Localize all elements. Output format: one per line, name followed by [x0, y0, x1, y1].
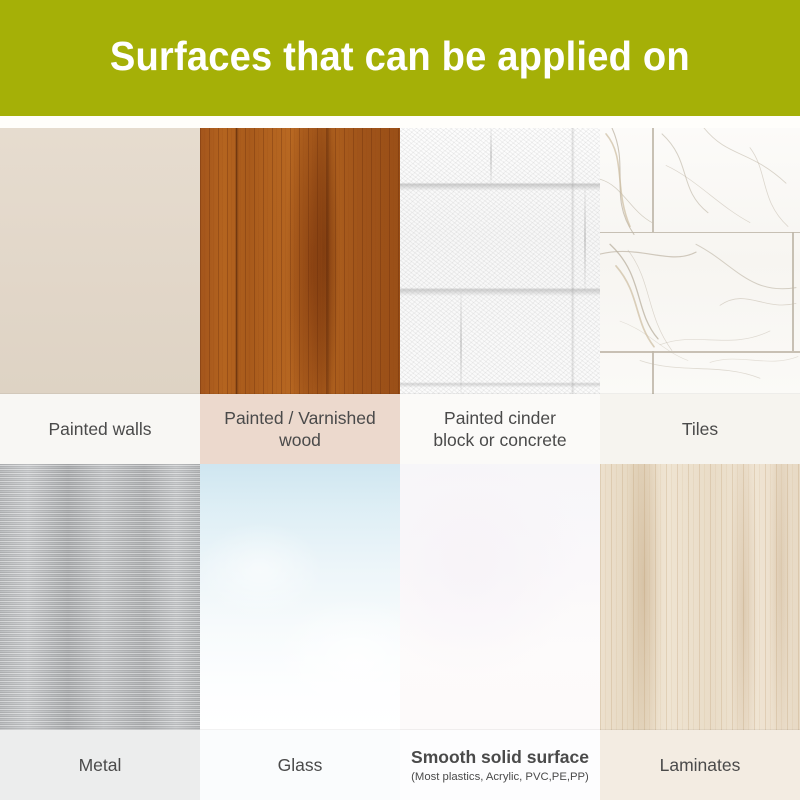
- swatch-painted-cinder-block: [400, 128, 600, 394]
- surface-cell-metal[interactable]: Metal: [0, 464, 200, 800]
- mortar-joint-vertical: [490, 128, 492, 184]
- surface-cell-painted-varnished-wood[interactable]: Painted / Varnished wood: [200, 128, 400, 464]
- swatch-separator: [200, 393, 400, 394]
- surface-cell-painted-walls[interactable]: Painted walls: [0, 128, 200, 464]
- swatch-separator: [400, 393, 600, 394]
- swatch-tiles: [600, 128, 800, 394]
- surface-cell-smooth-solid-surface[interactable]: Smooth solid surface (Most plastics, Acr…: [400, 464, 600, 800]
- caption-metal: Metal: [0, 730, 200, 800]
- surface-label: Laminates: [660, 754, 741, 776]
- grout-line-horizontal: [600, 232, 800, 234]
- caption-smooth-solid-surface: Smooth solid surface (Most plastics, Acr…: [400, 730, 600, 800]
- surface-label: Painted cinder: [444, 407, 556, 429]
- swatch-separator: [0, 729, 200, 730]
- surface-cell-painted-cinder-block[interactable]: Painted cinder block or concrete: [400, 128, 600, 464]
- surface-label: Smooth solid surface: [411, 746, 589, 768]
- marble-veining: [600, 128, 800, 394]
- surface-label: Painted / Varnished: [224, 407, 375, 429]
- surfaces-poster: Surfaces that can be applied on Painted …: [0, 0, 800, 800]
- swatch-metal: [0, 464, 200, 730]
- surface-cell-glass[interactable]: Glass: [200, 464, 400, 800]
- grout-line-vertical: [652, 351, 654, 394]
- grout-line-vertical: [792, 232, 794, 352]
- caption-painted-walls: Painted walls: [0, 394, 200, 464]
- surface-cell-tiles[interactable]: Tiles: [600, 128, 800, 464]
- swatch-separator: [600, 393, 800, 394]
- surface-grid: Painted walls Painted / Varnished wood P…: [0, 128, 800, 800]
- surface-label: Metal: [79, 754, 122, 776]
- surface-sublabel: (Most plastics, Acrylic, PVC,PE,PP): [411, 770, 589, 784]
- swatch-laminates: [600, 464, 800, 730]
- swatch-separator: [600, 729, 800, 730]
- swatch-separator: [400, 729, 600, 730]
- swatch-smooth-solid-surface: [400, 464, 600, 730]
- page-title: Surfaces that can be applied on: [110, 33, 690, 80]
- grout-line-horizontal: [600, 351, 800, 353]
- swatch-painted-walls: [0, 128, 200, 394]
- surface-label: Glass: [278, 754, 323, 776]
- surface-label: Tiles: [682, 418, 718, 440]
- mortar-joint-vertical: [584, 187, 586, 291]
- swatch-separator: [200, 729, 400, 730]
- surface-cell-laminates[interactable]: Laminates: [600, 464, 800, 800]
- header-divider-gap: [0, 116, 800, 128]
- surface-label-line2: block or concrete: [433, 429, 566, 451]
- surface-label-line2: wood: [279, 429, 321, 451]
- surface-label: Painted walls: [48, 418, 151, 440]
- header-banner: Surfaces that can be applied on: [0, 0, 800, 116]
- swatch-separator: [0, 393, 200, 394]
- caption-laminates: Laminates: [600, 730, 800, 800]
- caption-glass: Glass: [200, 730, 400, 800]
- swatch-painted-varnished-wood: [200, 128, 400, 394]
- grout-line-vertical: [652, 128, 654, 232]
- swatch-glass: [200, 464, 400, 730]
- caption-painted-cinder-block: Painted cinder block or concrete: [400, 394, 600, 464]
- caption-painted-varnished-wood: Painted / Varnished wood: [200, 394, 400, 464]
- caption-tiles: Tiles: [600, 394, 800, 464]
- mortar-joint-vertical: [460, 293, 462, 394]
